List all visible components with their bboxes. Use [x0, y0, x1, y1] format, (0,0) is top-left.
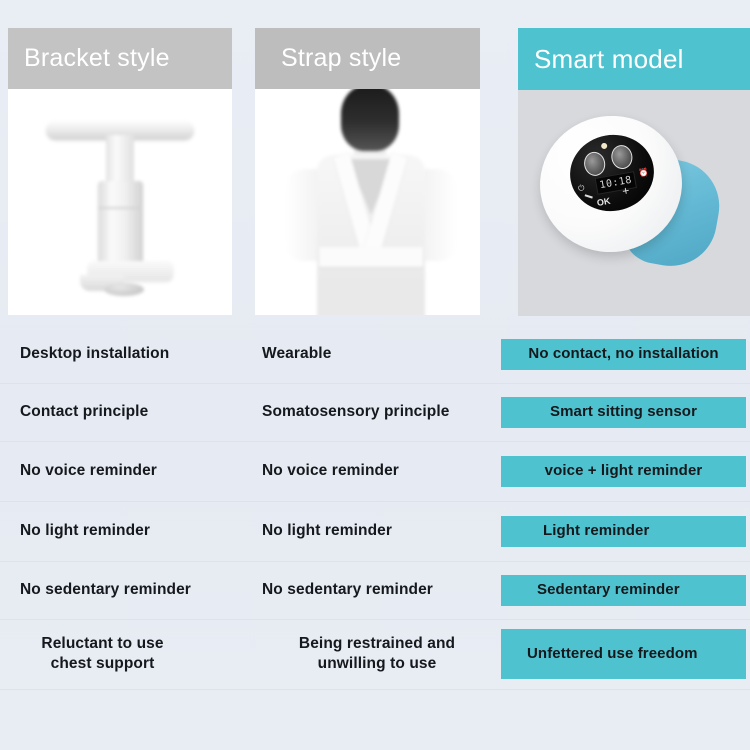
device-sensor-left: [582, 150, 607, 177]
cell-strap-voice: No voice reminder: [262, 441, 492, 501]
cell-text: voice + light reminder: [545, 461, 703, 481]
bracket-seam: [98, 207, 143, 209]
table-row: Reluctant to use chest support Being res…: [0, 619, 750, 690]
cell-text: Light reminder: [543, 521, 649, 541]
strap-waist-band: [319, 247, 423, 267]
table-row: Desktop installation Wearable No contact…: [0, 325, 750, 384]
product-image-bracket: [8, 89, 232, 315]
smart-device-illustration: 10:18 ⏻ ⏰ OK +: [518, 90, 750, 316]
strap-illustration: [255, 89, 480, 315]
cell-smart-voice: voice + light reminder: [501, 441, 746, 501]
table-row: No light reminder No light reminder Ligh…: [0, 501, 750, 562]
table-row: No sedentary reminder No sedentary remin…: [0, 561, 750, 620]
alarm-icon[interactable]: ⏰: [638, 169, 649, 179]
cell-bracket-voice: No voice reminder: [20, 441, 235, 501]
table-row: Contact principle Somatosensory principl…: [0, 383, 750, 442]
column-header-bracket-label: Bracket style: [24, 44, 170, 73]
cell-text: No voice reminder: [20, 461, 157, 481]
cell-text: Wearable: [262, 344, 331, 364]
status-badge: voice + light reminder: [501, 456, 746, 487]
cell-text: Desktop installation: [20, 344, 169, 364]
bracket-illustration: [8, 89, 232, 315]
cell-smart-light: Light reminder: [501, 501, 746, 561]
cell-text-line2: chest support: [20, 654, 185, 674]
cell-text: No light reminder: [20, 521, 150, 541]
cell-strap-experience: Being restrained and unwilling to use: [262, 619, 492, 689]
cell-text: No contact, no installation: [528, 344, 718, 364]
status-badge: Light reminder: [501, 516, 746, 547]
status-badge: Unfettered use freedom: [501, 629, 746, 679]
cell-smart-installation: No contact, no installation: [501, 325, 746, 383]
cell-bracket-light: No light reminder: [20, 501, 235, 561]
product-image-smart: 10:18 ⏻ ⏰ OK +: [518, 90, 750, 316]
cell-text: No sedentary reminder: [20, 580, 191, 600]
status-badge: No contact, no installation: [501, 339, 746, 370]
cell-text-multiline: Being restrained and unwilling to use: [262, 634, 492, 675]
column-header-strap: Strap style: [255, 28, 480, 89]
minus-button[interactable]: [585, 194, 593, 198]
device-led-indicator: [601, 142, 608, 149]
column-header-smart: Smart model: [518, 28, 750, 90]
column-header-bracket: Bracket style: [8, 28, 232, 89]
cell-smart-experience: Unfettered use freedom: [501, 619, 746, 689]
cell-text: Sedentary reminder: [537, 580, 680, 600]
cell-text: No sedentary reminder: [262, 580, 433, 600]
column-header-smart-label: Smart model: [534, 44, 684, 75]
cell-text-line1: Being restrained and: [262, 634, 492, 654]
cell-smart-principle: Smart sitting sensor: [501, 383, 746, 441]
cell-bracket-experience: Reluctant to use chest support: [20, 619, 235, 689]
person-hair: [341, 89, 399, 151]
cell-smart-sedentary: Sedentary reminder: [501, 561, 746, 619]
power-icon[interactable]: ⏻: [578, 184, 586, 193]
status-badge: Sedentary reminder: [501, 575, 746, 606]
cell-strap-sedentary: No sedentary reminder: [262, 561, 492, 619]
device-lcd-display: 10:18: [595, 171, 637, 195]
bracket-neck: [106, 135, 134, 187]
cell-text-multiline: Reluctant to use chest support: [20, 634, 235, 675]
cell-bracket-sedentary: No sedentary reminder: [20, 561, 235, 619]
cell-text: No voice reminder: [262, 461, 399, 481]
person-lower-body: [317, 285, 425, 315]
product-image-strap: [255, 89, 480, 315]
cell-text-line2: unwilling to use: [262, 654, 492, 674]
cell-text: Unfettered use freedom: [527, 644, 698, 664]
bracket-column: [98, 181, 143, 266]
cell-strap-light: No light reminder: [262, 501, 492, 561]
bracket-knob: [104, 283, 144, 296]
cell-strap-installation: Wearable: [262, 325, 492, 383]
cell-strap-principle: Somatosensory principle: [262, 383, 492, 441]
cell-text: No light reminder: [262, 521, 392, 541]
cell-text: Somatosensory principle: [262, 402, 450, 422]
ok-button[interactable]: OK: [596, 196, 611, 208]
cell-bracket-principle: Contact principle: [20, 383, 235, 441]
cell-bracket-installation: Desktop installation: [20, 325, 235, 383]
device-sensor-right: [609, 143, 634, 170]
table-row: No voice reminder No voice reminder voic…: [0, 441, 750, 502]
cell-text: Contact principle: [20, 402, 148, 422]
cell-text: Smart sitting sensor: [550, 402, 697, 422]
comparison-infographic: Bracket style Strap style Smart model: [0, 0, 750, 750]
column-header-strap-label: Strap style: [281, 44, 401, 73]
cell-text-line1: Reluctant to use: [20, 634, 185, 654]
status-badge: Smart sitting sensor: [501, 397, 746, 428]
